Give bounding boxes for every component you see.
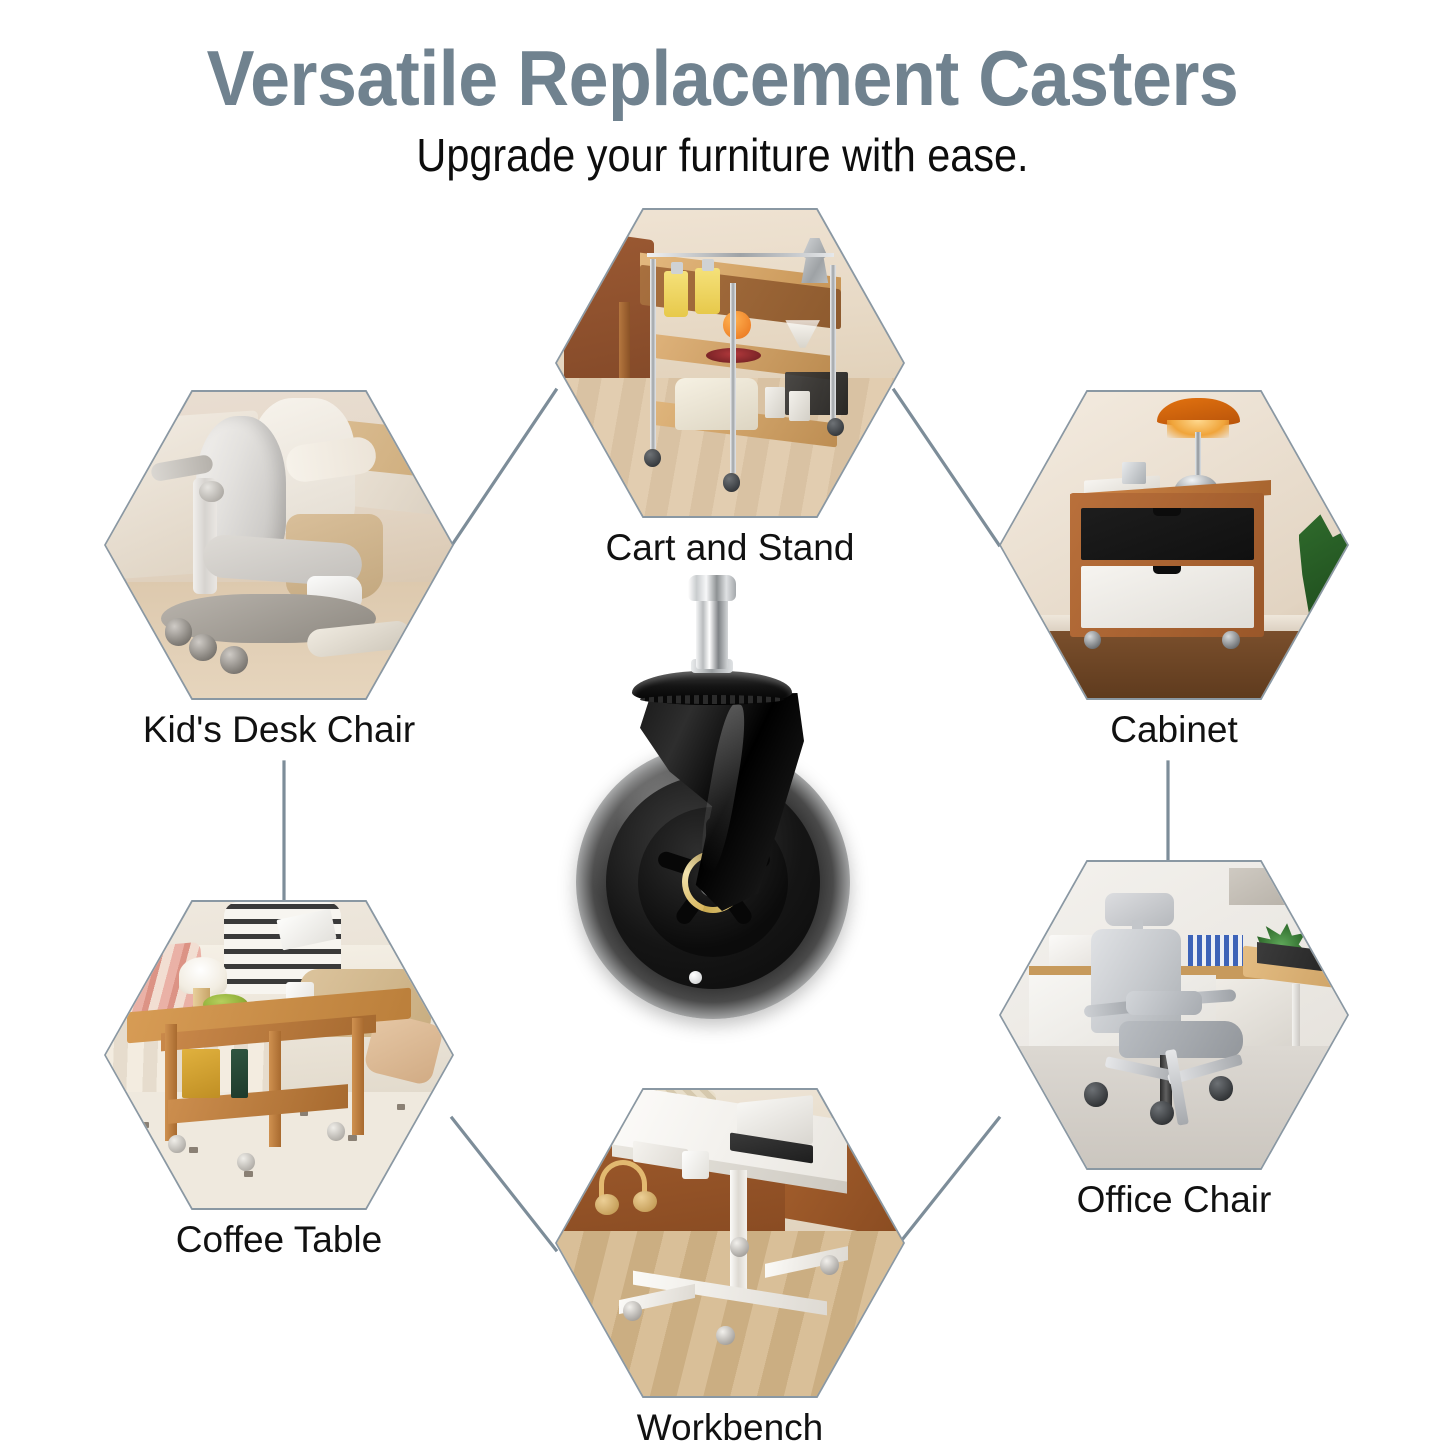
hexagon-kids-desk-chair[interactable] <box>104 390 454 700</box>
label-coffee-table: Coffee Table <box>0 1218 559 1262</box>
caster-cap-groove <box>640 695 784 704</box>
connector-kidschair-cart <box>452 390 556 545</box>
hexagon-workbench[interactable] <box>555 1088 905 1398</box>
label-kids-desk-chair: Kid's Desk Chair <box>0 708 559 752</box>
hexagon-image-office-chair <box>1001 862 1347 1168</box>
hexagon-image-kids-desk-chair <box>106 392 452 698</box>
hexagon-image-coffee-table <box>106 902 452 1208</box>
node-office-chair[interactable]: Office Chair <box>999 860 1349 1170</box>
connector-cart-cabinet <box>894 390 999 545</box>
node-workbench[interactable]: Workbench <box>555 1088 905 1398</box>
node-kids-desk-chair[interactable]: Kid's Desk Chair <box>104 390 454 700</box>
hexagon-office-chair[interactable] <box>999 860 1349 1170</box>
caster-product-image <box>560 575 890 1025</box>
node-cart-and-stand[interactable]: Cart and Stand <box>555 208 905 518</box>
hexagon-cabinet[interactable] <box>999 390 1349 700</box>
hexagon-image-cabinet <box>1001 392 1347 698</box>
label-cabinet: Cabinet <box>894 708 1445 752</box>
hexagon-cart-and-stand[interactable] <box>555 208 905 518</box>
caster-stem <box>696 595 728 669</box>
hexagon-image-cart-and-stand <box>557 210 903 516</box>
hexagon-image-workbench <box>557 1090 903 1396</box>
label-workbench: Workbench <box>450 1406 1010 1450</box>
label-office-chair: Office Chair <box>894 1178 1445 1222</box>
node-cabinet[interactable]: Cabinet <box>999 390 1349 700</box>
hexagon-coffee-table[interactable] <box>104 900 454 1210</box>
caster-marker-dot <box>689 971 702 984</box>
caster-grip-ring <box>688 575 736 601</box>
node-coffee-table[interactable]: Coffee Table <box>104 900 454 1210</box>
label-cart-and-stand: Cart and Stand <box>450 526 1010 570</box>
